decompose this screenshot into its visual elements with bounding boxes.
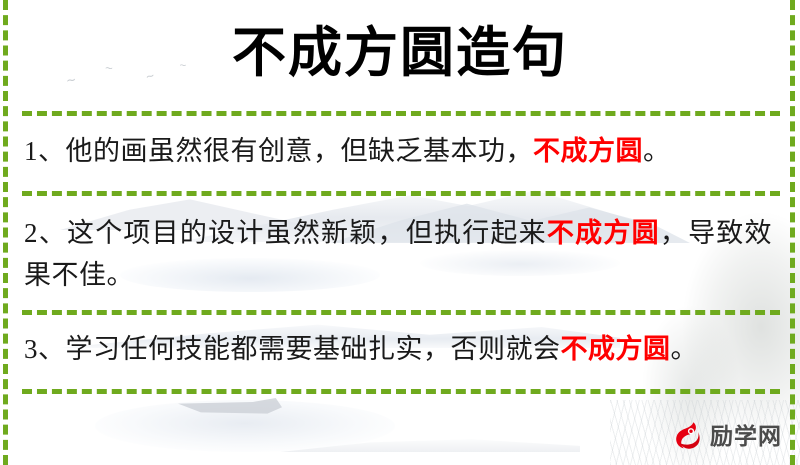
highlighted-idiom: 不成方圆: [547, 218, 660, 248]
sentence-text-after: 。: [671, 334, 699, 364]
list-item: 2、这个项目的设计虽然新颖，但执行起来不成方圆，导致效果不佳。: [24, 212, 772, 296]
sentence-list: 1、他的画虽然很有创意，但缺乏基本功，不成方圆。 2、这个项目的设计虽然新颖，但…: [0, 0, 800, 465]
slide-canvas: ~ ~ ~ ~ 不成方圆造句 1、他的画虽然很有创意，但缺乏基本功，不成方圆。 …: [0, 0, 800, 465]
highlighted-idiom: 不成方圆: [561, 334, 671, 364]
sentence-number: 3、: [24, 334, 66, 364]
sentence-text-before: 这个项目的设计虽然新颖，但执行起来: [67, 218, 547, 248]
site-logo[interactable]: 励学网: [670, 419, 782, 453]
list-item: 3、学习任何技能都需要基础扎实，否则就会不成方圆。: [24, 328, 772, 370]
highlighted-idiom: 不成方圆: [533, 136, 643, 166]
list-item: 1、他的画虽然很有创意，但缺乏基本功，不成方圆。: [24, 130, 772, 172]
sentence-text-before: 他的画虽然很有创意，但缺乏基本功，: [66, 136, 534, 166]
flame-swirl-icon: [670, 419, 704, 453]
sentence-number: 1、: [24, 136, 66, 166]
sentence-text-before: 学习任何技能都需要基础扎实，否则就会: [66, 334, 561, 364]
sentence-number: 2、: [24, 218, 67, 248]
site-logo-text: 励学网: [710, 425, 782, 448]
sentence-text-after: 。: [643, 136, 671, 166]
